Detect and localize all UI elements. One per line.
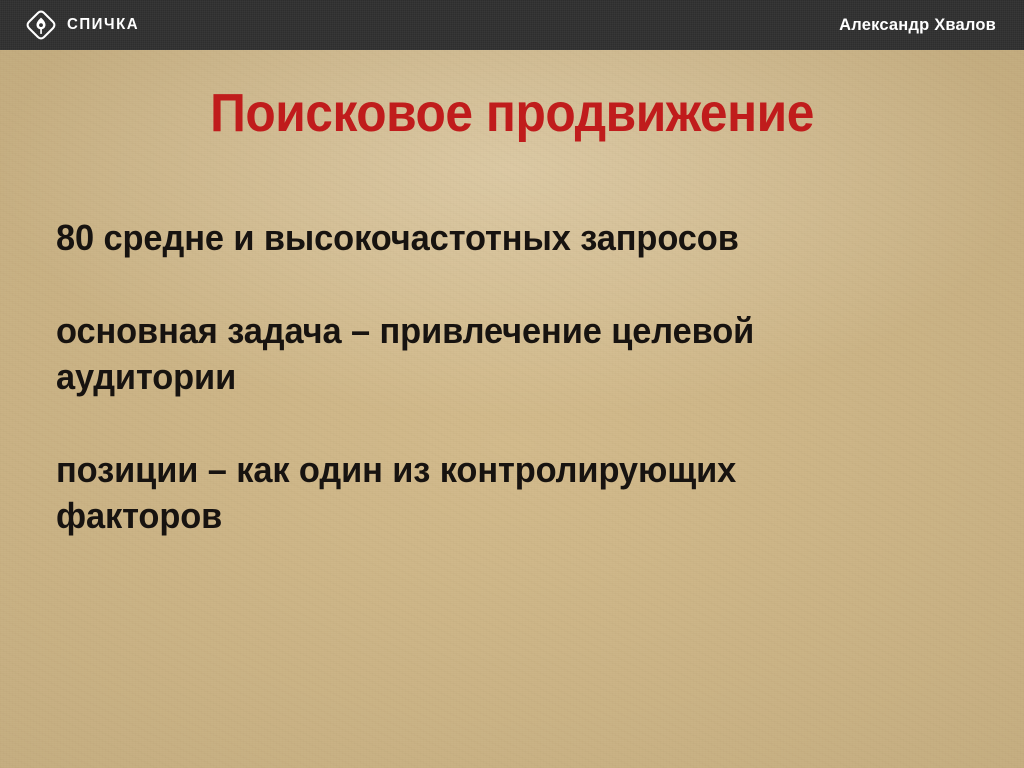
slide-header-bar: СПИЧКА Александр Хвалов: [0, 0, 1024, 50]
body-paragraph: основная задача – привлечение целевой ау…: [56, 308, 830, 400]
slide-content: Поисковое продвижение 80 средне и высоко…: [0, 50, 1024, 768]
presenter-name: Александр Хвалов: [839, 16, 996, 35]
brand-lockup: СПИЧКА: [26, 10, 144, 40]
diamond-match-flame-logo-icon: [26, 10, 56, 40]
body-paragraph: позиции – как один из контролирующих фак…: [56, 447, 839, 539]
slide-title: Поисковое продвижение: [41, 85, 983, 142]
presentation-slide: СПИЧКА Александр Хвалов Поисковое продви…: [0, 0, 1024, 768]
slide-body: 80 средне и высокочастотных запросов осн…: [56, 215, 906, 539]
brand-name: СПИЧКА: [67, 16, 139, 34]
body-paragraph: 80 средне и высокочастотных запросов: [56, 215, 849, 261]
